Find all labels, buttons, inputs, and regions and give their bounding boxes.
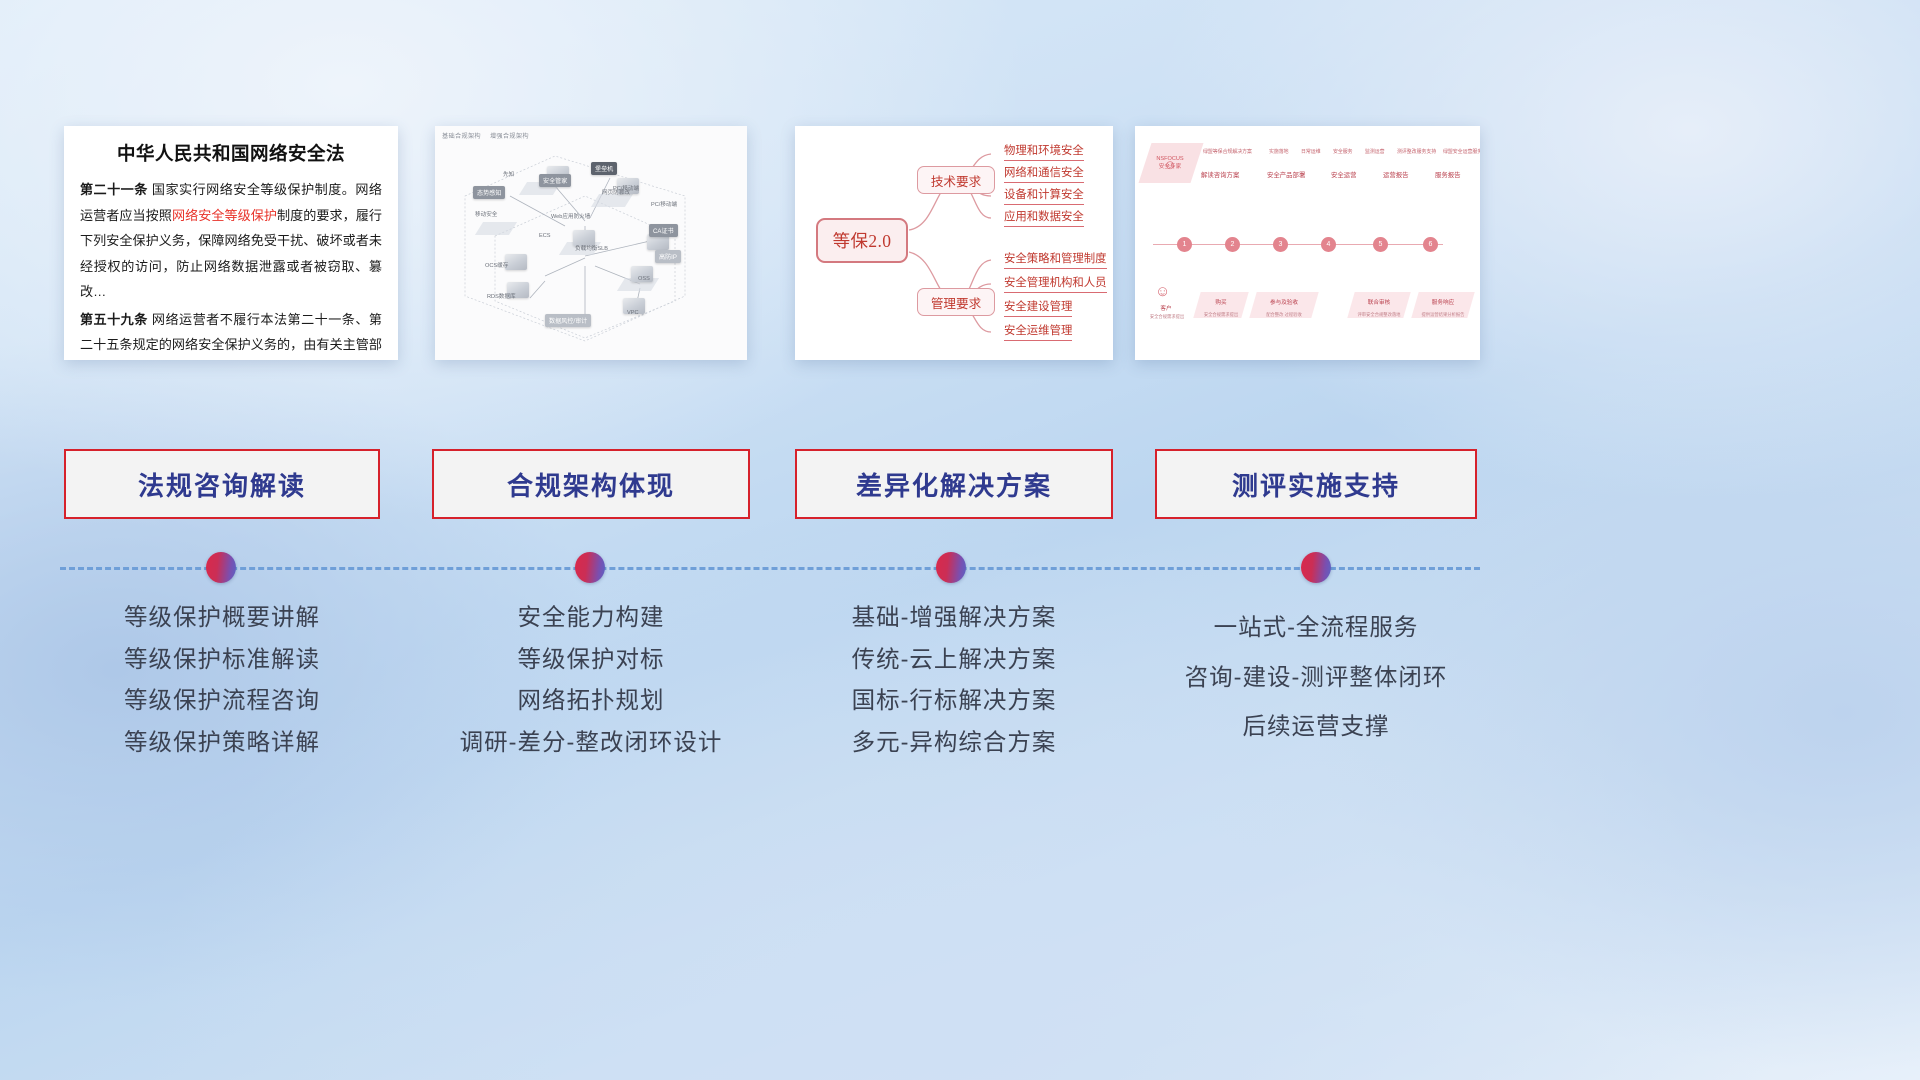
bullet-item-0-1: 等级保护标准解读 [64,648,380,672]
nsf-timeline-axis [1153,244,1443,245]
customer-person-icon: ☺ [1155,284,1170,299]
bullet-item-1-0: 安全能力构建 [432,606,750,630]
nsf-top-label-2: 日常运维 [1301,148,1321,155]
expert-person-icon: ☺ [1163,158,1176,171]
bullet-item-1-2: 网络拓扑规划 [432,689,750,713]
timeline-dot-0[interactable] [206,552,236,583]
bullet-column-3: 一站式-全流程服务 咨询-建设-测评整体闭环 后续运营支撑 [1150,616,1482,765]
nsf-top-label-6: 绿盟安全运营服务及支撑运营服务 [1443,148,1480,155]
mindmap-leaf-mgmt-0: 安全策略和管理制度 [1004,250,1107,269]
nsf-top-label-4: 监测运营 [1365,148,1385,155]
mindmap-leaf-tech-0: 物理和环境安全 [1004,142,1084,161]
article-21-highlight: 网络安全等级保护 [172,208,277,223]
law-article-21: 第二十一条 国家实行网络安全等级保护制度。网络运营者应当按照网络安全等级保护制度… [80,177,382,305]
arch-node-8: 高防IP [655,250,681,263]
nsf-bottom-tag-1-sub: 配合整改 过程验收 [1251,312,1317,318]
headline-box-3[interactable]: 测评实施支持 [1155,449,1477,519]
bullet-column-2: 基础-增强解决方案 传统-云上解决方案 国标-行标解决方案 多元-异构综合方案 [795,606,1113,772]
arch-node-9: ECS [539,233,551,239]
mindmap-leaf-mgmt-3: 安全运维管理 [1004,322,1072,341]
bullet-item-2-3: 多元-异构综合方案 [795,731,1113,755]
arch-node-7: CA证书 [649,224,678,237]
bullet-item-0-3: 等级保护策略详解 [64,731,380,755]
arch-node-15: 移动安全 [475,210,497,218]
bullet-item-2-0: 基础-增强解决方案 [795,606,1113,630]
arch-node-1: 堡垒机 [591,162,617,175]
nsf-step-1: 2 [1225,237,1240,252]
arch-node-5: Web应用防火墙 [551,212,590,220]
arch-node-4: 先知 [503,170,514,178]
bullet-item-0-2: 等级保护流程咨询 [64,689,380,713]
mindmap-leaf-mgmt-2: 安全建设管理 [1004,298,1072,317]
timeline-dot-1[interactable] [575,552,605,583]
nsf-phase-2: 安全运营 [1331,170,1357,179]
nsf-phase-0: 解读咨询方案 [1201,170,1239,179]
law-article-59: 第五十九条 网络运营者不履行本法第二十一条、第二十五条规定的网络安全保护义务的，… [80,307,382,360]
mindmap-root-node: 等保2.0 [816,218,908,263]
arch-node-14: 数据风控/审计 [545,314,591,327]
mindmap-branch-technical: 技术要求 [917,166,995,194]
headline-label-0: 法规咨询解读 [138,466,306,503]
nsf-phase-1: 安全产品部署 [1267,170,1305,179]
headline-box-0[interactable]: 法规咨询解读 [64,449,380,519]
slide-stage: 中华人民共和国网络安全法 第二十一条 国家实行网络安全等级保护制度。网络运营者应… [0,0,1920,1080]
bullet-column-1: 安全能力构建 等级保护对标 网络拓扑规划 调研-差分-整改闭环设计 [432,606,750,772]
nsf-top-label-5: 测评整改服务支持 [1397,148,1436,155]
headline-box-1[interactable]: 合规架构体现 [432,449,750,519]
arch-node-10: OCS缓存 [485,261,508,269]
arch-node-11: RDS数据库 [487,292,516,300]
mindmap-branch-management: 管理要求 [917,288,995,316]
nsf-bottom-tag-2-title: 联合审核 [1351,298,1407,306]
bullet-item-2-2: 国标-行标解决方案 [795,689,1113,713]
timeline-dot-2[interactable] [936,552,966,583]
bullet-item-3-1: 咨询-建设-测评整体闭环 [1150,666,1482,690]
headline-label-1: 合规架构体现 [507,466,675,503]
nsf-phase-3: 运营报告 [1383,170,1409,179]
headline-label-3: 测评实施支持 [1232,466,1400,503]
arch-node-17: PC/移动端 [651,200,677,208]
nsf-customer-sub: 安全合规需求提出 [1139,314,1195,320]
nsf-step-4: 5 [1373,237,1388,252]
mindmap-leaf-mgmt-1: 安全管理机构和人员 [1004,274,1107,293]
nsf-step-2: 3 [1273,237,1288,252]
nsf-customer-label: 客户 [1143,304,1189,312]
timeline-dot-3[interactable] [1301,552,1331,583]
law-card-title: 中华人民共和国网络安全法 [80,140,382,166]
arch-node-12: OSS [638,276,650,282]
bullet-item-1-3: 调研-差分-整改闭环设计 [432,731,750,755]
law-text-card: 中华人民共和国网络安全法 第二十一条 国家实行网络安全等级保护制度。网络运营者应… [64,126,398,360]
arch-node-0: 安全管家 [539,174,571,187]
arch-node-3: 态势感知 [473,186,505,199]
bullet-column-0: 等级保护概要讲解 等级保护标准解读 等级保护流程咨询 等级保护策略详解 [64,606,380,772]
nsf-top-label-1: 实施落地 [1269,148,1289,155]
nsfocus-timeline-card: ☺ NSFOCUS 安全专家 绿盟等保合规解决方案 实施落地 日常运维 安全服务… [1135,126,1480,360]
nsf-bottom-tag-0-sub: 安全合规需求提出 [1191,312,1251,318]
article-21-label: 第二十一条 [80,182,148,197]
nsf-top-label-3: 安全服务 [1333,148,1353,155]
bullet-item-1-1: 等级保护对标 [432,648,750,672]
nsf-bottom-tag-0-title: 购买 [1197,298,1245,306]
nsf-step-5: 6 [1423,237,1438,252]
nsf-bottom-tag-1-title: 参与及验收 [1253,298,1315,306]
headline-label-2: 差异化解决方案 [856,466,1052,503]
nsf-top-label-0: 绿盟等保合规解决方案 [1203,148,1252,155]
mindmap-card: 等保2.0 技术要求 管理要求 物理和环境安全 网络和通信安全 设备和计算安全 … [795,126,1113,360]
nsf-bottom-tag-2-sub: 评审安全合规整改落地 [1341,312,1417,318]
bullet-item-3-0: 一站式-全流程服务 [1150,616,1482,640]
arch-node-16: PC/移动端 [613,184,639,192]
nsf-bottom-tag-3-title: 服务响应 [1415,298,1471,306]
bullet-item-2-1: 传统-云上解决方案 [795,648,1113,672]
nsf-expert-block: ☺ NSFOCUS 安全专家 [1149,146,1191,182]
arch-node-13: VPC [627,310,639,316]
bullet-item-0-0: 等级保护概要讲解 [64,606,380,630]
nsf-step-0: 1 [1177,237,1192,252]
timeline-dashed-line [60,567,1480,570]
article-59-label: 第五十九条 [80,312,148,327]
nsf-step-3: 4 [1321,237,1336,252]
arch-node-6: 负载均衡SLB [575,244,608,252]
bullet-item-3-2: 后续运营支撑 [1150,715,1482,739]
headline-box-2[interactable]: 差异化解决方案 [795,449,1113,519]
nsf-phase-4: 服务报告 [1435,170,1461,179]
architecture-diagram-card: 基础合规架构增强合规架构 [435,126,747,360]
mindmap-leaf-tech-2: 设备和计算安全 [1004,186,1084,205]
mindmap-leaf-tech-1: 网络和通信安全 [1004,164,1084,183]
mindmap-leaf-tech-3: 应用和数据安全 [1004,208,1084,227]
nsf-bottom-tag-3-sub: 提供运营结果分析报告 [1407,312,1479,318]
